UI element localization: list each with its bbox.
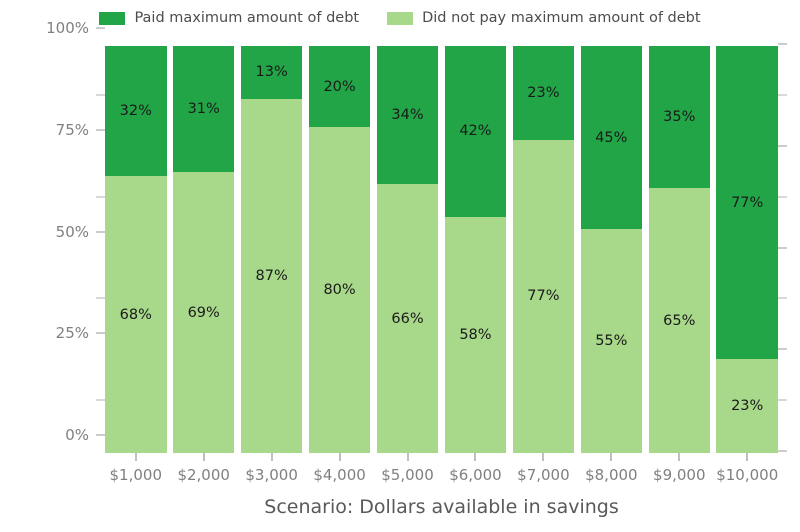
y-tick: 25%	[56, 324, 105, 342]
bar-column[interactable]: 13%87%	[241, 46, 303, 453]
y-tick-mark-right	[778, 450, 787, 452]
chart-legend: Paid maximum amount of debt Did not pay …	[0, 6, 800, 30]
x-tick-mark	[678, 453, 680, 461]
bar-column[interactable]: 23%77%	[513, 46, 575, 453]
bar-segment-did-not-pay[interactable]: 69%	[173, 172, 235, 453]
bar-segment-label-paid: 45%	[595, 130, 627, 146]
y-minor-tick	[96, 297, 105, 299]
y-tick-mark	[96, 332, 105, 334]
bar-column[interactable]: 42%58%	[445, 46, 507, 453]
bar-segment-label-paid: 42%	[459, 123, 491, 139]
x-tick-mark	[271, 453, 273, 461]
x-tick-label: $5,000	[381, 466, 434, 484]
bar-segment-label-did-not-pay: 69%	[188, 305, 220, 321]
y-tick-label: 75%	[56, 121, 89, 139]
bar-segment-did-not-pay[interactable]: 65%	[649, 188, 711, 453]
bar-segment-label-paid: 23%	[527, 85, 559, 101]
bar-segment-did-not-pay[interactable]: 80%	[309, 127, 371, 453]
x-tick-mark	[407, 453, 409, 461]
y-tick-mark-right	[778, 43, 787, 45]
bar-segment-did-not-pay[interactable]: 23%	[716, 359, 778, 453]
x-tick-label: $10,000	[716, 466, 778, 484]
bar-segment-paid[interactable]: 23%	[513, 46, 575, 140]
y-tick-label: 25%	[56, 324, 89, 342]
bar-segment-label-paid: 77%	[731, 195, 763, 211]
legend-label-paid: Paid maximum amount of debt	[134, 11, 359, 26]
x-tick-mark	[610, 453, 612, 461]
x-axis-title: Scenario: Dollars available in savings	[105, 496, 778, 518]
bar-segment-paid[interactable]: 13%	[241, 46, 303, 99]
y-tick: 100%	[46, 19, 105, 37]
bar-segment-label-paid: 20%	[323, 79, 355, 95]
x-tick-mark	[203, 453, 205, 461]
x-tick-label: $1,000	[110, 466, 163, 484]
legend-entry-paid[interactable]: Paid maximum amount of debt	[99, 11, 359, 26]
bar-segment-label-did-not-pay: 77%	[527, 288, 559, 304]
y-minor-tick	[96, 196, 105, 198]
y-tick-mark	[96, 434, 105, 436]
y-tick-mark	[96, 129, 105, 131]
bar-segment-paid[interactable]: 35%	[649, 46, 711, 188]
bar-segment-label-did-not-pay: 55%	[595, 333, 627, 349]
bar-segment-label-paid: 13%	[256, 64, 288, 80]
bar-segment-label-did-not-pay: 87%	[256, 268, 288, 284]
bar-column[interactable]: 77%23%	[716, 46, 778, 453]
y-tick-mark	[96, 231, 105, 233]
bar-segment-paid[interactable]: 34%	[377, 46, 439, 184]
plot-area: 0%25%50%75%100% 32%68%31%69%13%87%20%80%…	[105, 46, 778, 453]
y-tick-label: 50%	[56, 223, 89, 241]
y-tick-label: 0%	[65, 426, 89, 444]
bar-group: 32%68%31%69%13%87%20%80%34%66%42%58%23%7…	[105, 46, 778, 453]
x-tick-mark	[135, 453, 137, 461]
y-minor-tick-right	[778, 94, 787, 96]
bar-segment-label-did-not-pay: 58%	[459, 327, 491, 343]
bar-segment-did-not-pay[interactable]: 68%	[105, 176, 167, 453]
bar-segment-paid[interactable]: 31%	[173, 46, 235, 172]
bar-segment-label-paid: 32%	[120, 103, 152, 119]
x-tick-mark	[474, 453, 476, 461]
legend-swatch-did-not-pay	[387, 12, 413, 25]
bar-segment-label-paid: 31%	[188, 101, 220, 117]
y-tick-mark-right	[778, 247, 787, 249]
bar-column[interactable]: 45%55%	[581, 46, 643, 453]
bar-segment-did-not-pay[interactable]: 77%	[513, 140, 575, 453]
x-tick-mark	[339, 453, 341, 461]
x-tick-label: $3,000	[245, 466, 298, 484]
x-tick-mark	[746, 453, 748, 461]
bar-segment-paid[interactable]: 20%	[309, 46, 371, 127]
x-tick-label: $6,000	[449, 466, 502, 484]
y-tick-mark	[96, 27, 105, 29]
x-tick-label: $8,000	[585, 466, 638, 484]
bar-column[interactable]: 32%68%	[105, 46, 167, 453]
bar-segment-paid[interactable]: 32%	[105, 46, 167, 176]
y-tick: 50%	[56, 223, 105, 241]
x-tick-label: $4,000	[313, 466, 366, 484]
y-axis-title: Percent of respondents	[0, 0, 34, 532]
bar-column[interactable]: 34%66%	[377, 46, 439, 453]
bar-column[interactable]: 31%69%	[173, 46, 235, 453]
y-tick: 75%	[56, 121, 105, 139]
bar-segment-label-did-not-pay: 66%	[391, 311, 423, 327]
y-tick: 0%	[65, 426, 105, 444]
bar-segment-label-did-not-pay: 65%	[663, 313, 695, 329]
bar-segment-label-did-not-pay: 80%	[323, 282, 355, 298]
x-tick-label: $9,000	[653, 466, 706, 484]
bar-column[interactable]: 35%65%	[649, 46, 711, 453]
y-minor-tick-right	[778, 297, 787, 299]
y-minor-tick	[96, 94, 105, 96]
y-minor-tick-right	[778, 399, 787, 401]
bar-segment-label-did-not-pay: 68%	[120, 307, 152, 323]
x-tick-mark	[542, 453, 544, 461]
chart-figure: Paid maximum amount of debt Did not pay …	[0, 0, 800, 532]
y-tick-label: 100%	[46, 19, 89, 37]
bar-segment-label-did-not-pay: 23%	[731, 398, 763, 414]
bar-segment-did-not-pay[interactable]: 58%	[445, 217, 507, 453]
legend-entry-did-not-pay[interactable]: Did not pay maximum amount of debt	[387, 11, 700, 26]
y-tick-mark-right	[778, 348, 787, 350]
bar-segment-paid[interactable]: 42%	[445, 46, 507, 217]
bar-segment-label-paid: 34%	[391, 107, 423, 123]
y-minor-tick	[96, 399, 105, 401]
bar-segment-did-not-pay[interactable]: 87%	[241, 99, 303, 453]
bar-column[interactable]: 20%80%	[309, 46, 371, 453]
legend-label-did-not-pay: Did not pay maximum amount of debt	[422, 11, 700, 26]
y-tick-mark-right	[778, 145, 787, 147]
bar-segment-paid[interactable]: 45%	[581, 46, 643, 229]
bar-segment-did-not-pay[interactable]: 66%	[377, 184, 439, 453]
x-tick-label: $7,000	[517, 466, 570, 484]
bar-segment-label-paid: 35%	[663, 109, 695, 125]
bar-segment-did-not-pay[interactable]: 55%	[581, 229, 643, 453]
x-tick-label: $2,000	[177, 466, 230, 484]
bar-segment-paid[interactable]: 77%	[716, 46, 778, 359]
y-minor-tick-right	[778, 196, 787, 198]
